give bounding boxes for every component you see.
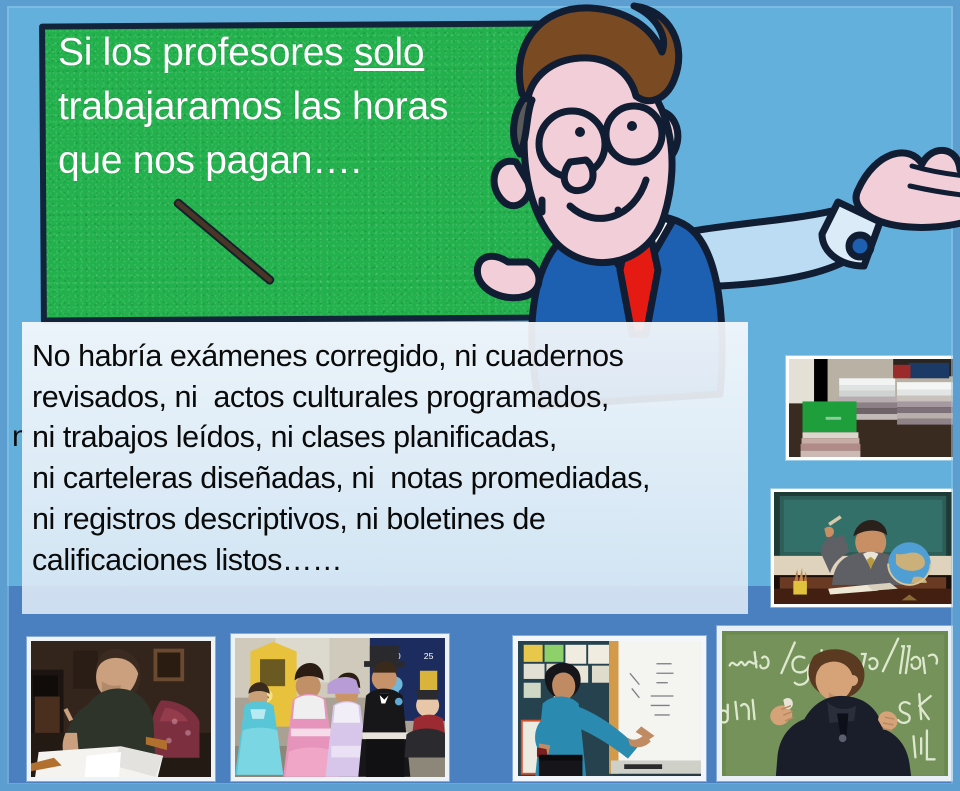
caption-line-1: No habría exámenes corregido, ni cuadern… — [32, 336, 744, 377]
photo-teacher-globe-art — [774, 492, 952, 606]
teacher-glasses-right-lens — [606, 106, 662, 162]
caption-line-6: calificaciones listos…… — [32, 540, 744, 581]
photo-teacher-whiteboard-art — [518, 641, 701, 778]
main-caption-text: No habría exámenes corregido, ni cuadern… — [32, 336, 744, 580]
teacher-chin-dot — [615, 207, 622, 214]
main-caption-panel: No habría exámenes corregido, ni cuadern… — [22, 322, 748, 614]
teacher-pointing-hand — [477, 256, 539, 297]
photo-students-costumes: 2830 25 — [231, 634, 449, 781]
teacher-eye-left — [575, 127, 585, 137]
photo-teacher-grading — [27, 637, 215, 781]
svg-text:25: 25 — [424, 651, 434, 661]
caption-line-3: ni trabajos leídos, ni clases planificad… — [32, 417, 744, 458]
photo-teacher-whiteboard — [513, 636, 706, 781]
photo-students-costumes-art: 2830 25 — [235, 638, 445, 780]
photo-teacher-globe — [771, 489, 955, 607]
chalkboard-line-1-pre: Si los profesores — [58, 31, 354, 74]
teacher-eye-right — [627, 121, 637, 131]
chalkboard-line-1-underlined: solo — [354, 31, 424, 74]
slide-canvas: Si los profesores solo trabajaramos las … — [0, 0, 960, 791]
teacher-nose — [564, 160, 593, 191]
teacher-glasses-bridge — [605, 138, 606, 140]
photo-teacher-grading-art — [31, 641, 211, 779]
photo-teacher-chalkboard — [717, 626, 953, 781]
caption-line-2: revisados, ni actos culturales programad… — [32, 377, 744, 418]
caption-line-5: ni registros descriptivos, ni boletines … — [32, 499, 744, 540]
teacher-cuff-button — [849, 235, 871, 257]
photo-teacher-chalkboard-art — [722, 631, 948, 779]
caption-line-4: ni carteleras diseñadas, ni notas promed… — [32, 458, 744, 499]
